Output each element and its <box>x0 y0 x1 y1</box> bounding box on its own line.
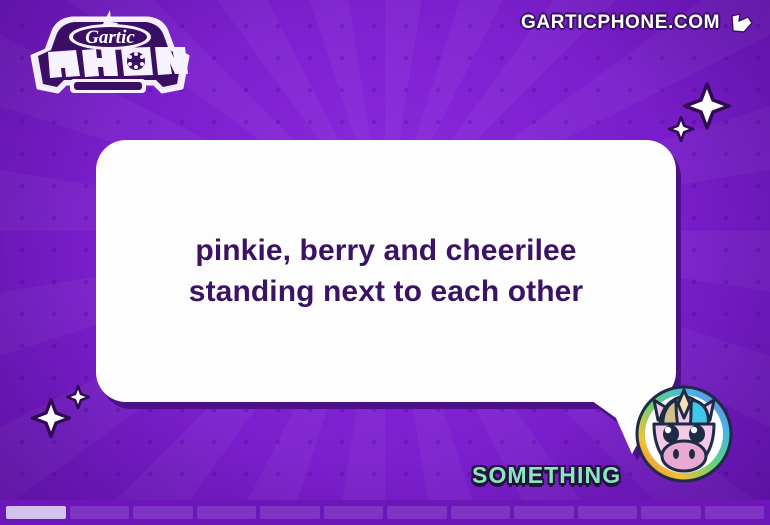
progress-segment[interactable] <box>6 506 66 519</box>
site-url[interactable]: GARTICPHONE.COM <box>521 12 754 34</box>
progress-segment[interactable] <box>387 506 447 519</box>
progress-segment[interactable] <box>260 506 320 519</box>
progress-segment[interactable] <box>197 506 257 519</box>
site-url-label: GARTICPHONE.COM <box>521 12 720 34</box>
progress-segment[interactable] <box>133 506 193 519</box>
player-nickname: SOMETHING <box>472 462 621 489</box>
progress-segment[interactable] <box>451 506 511 519</box>
sparkle-icon-small-top-right <box>668 116 694 142</box>
svg-text:Gartic: Gartic <box>85 27 135 48</box>
progress-segment[interactable] <box>324 506 384 519</box>
hand-cursor-icon <box>728 12 754 34</box>
progress-segment[interactable] <box>514 506 574 519</box>
prompt-bubble: pinkie, berry and cheerilee standing nex… <box>96 140 676 402</box>
prompt-text: pinkie, berry and cheerilee standing nex… <box>106 230 666 313</box>
prompt-bubble-body: pinkie, berry and cheerilee standing nex… <box>96 140 676 402</box>
gartic-phone-logo[interactable]: Gartic <box>22 6 198 98</box>
progress-segment[interactable] <box>641 506 701 519</box>
unicorn-avatar-icon[interactable] <box>634 384 734 484</box>
progress-bar[interactable] <box>0 500 770 525</box>
app-stage: Gartic GARTICPHONE.COM <box>0 0 770 525</box>
sparkle-icon-small-bottom-left <box>66 385 90 409</box>
sparkle-icon-large-bottom-left <box>31 398 71 438</box>
progress-segment[interactable] <box>578 506 638 519</box>
progress-segment[interactable] <box>705 506 765 519</box>
progress-segment[interactable] <box>70 506 130 519</box>
